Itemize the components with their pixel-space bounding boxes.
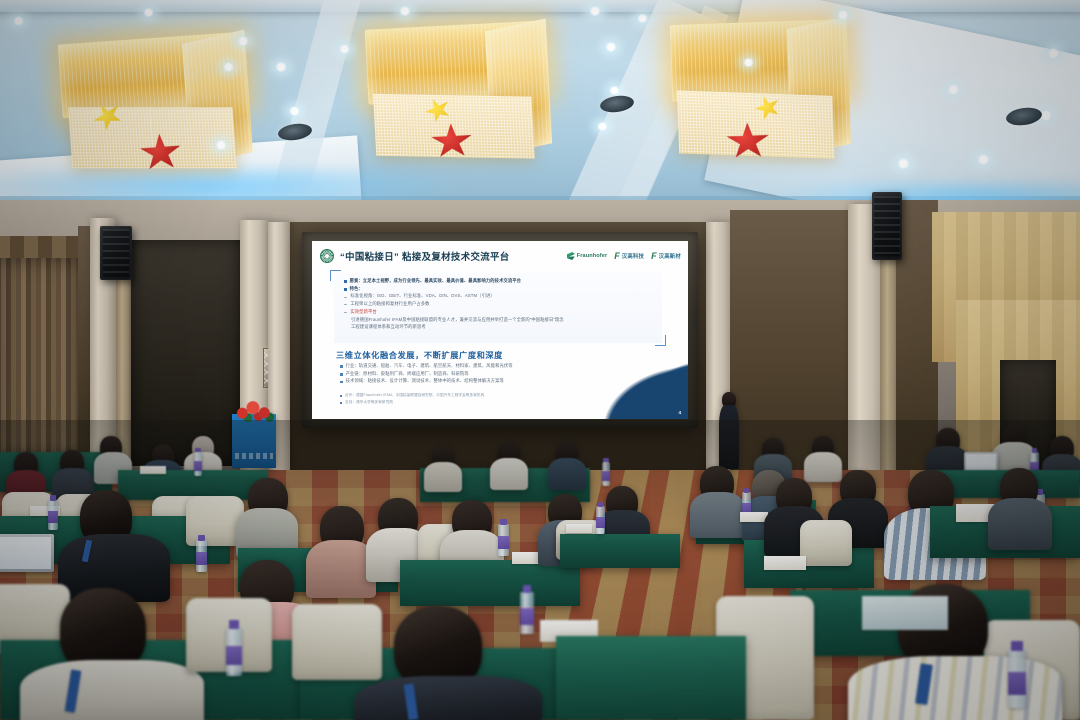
attendee-black-shirt xyxy=(62,490,172,600)
downlight xyxy=(608,86,621,95)
slide-bullet: 标准化视角：ISO、GB/T、行业标准、VDA、DIN、DVS、ASTM（引进） xyxy=(344,293,656,299)
attendee-body xyxy=(848,656,1062,720)
downlight xyxy=(946,84,961,95)
bullet-hyphen-icon xyxy=(344,312,347,313)
downlight xyxy=(398,6,412,16)
wall-panel-right-dark xyxy=(730,210,850,472)
attendee-foreground-left xyxy=(30,588,200,720)
presentation-slide: “中国粘接日” 粘接及复材技术交流平台 Fraunhofer F 汉高科技 F xyxy=(312,241,688,419)
downlight xyxy=(222,62,235,72)
slide-bullet-text: 标准化视角：ISO、GB/T、行业标准、VDA、DIN、DVS、ASTM（引进） xyxy=(350,293,494,299)
bullet-dot-icon xyxy=(344,288,347,291)
downlight xyxy=(12,16,25,26)
slide-list-text: 行业：轨道交通、船舶、汽车、电子、建筑、航空航天、材料家、建筑、风能和光伏等 xyxy=(346,363,513,369)
bullet-square-icon xyxy=(340,373,343,376)
downlight xyxy=(742,58,755,67)
ceiling xyxy=(0,0,1080,215)
slide-bullet: 愿景：立足本土视野，成为行业领先、最具实效、最具价值、最具影响力的技术交流平台 xyxy=(344,278,656,284)
slide-bullet-text: 特色： xyxy=(350,286,363,292)
downlight xyxy=(338,44,351,54)
water-bottle xyxy=(196,540,207,572)
table xyxy=(556,636,746,720)
slide-page-number: 4 xyxy=(678,410,681,415)
bullet-square-icon xyxy=(340,395,342,397)
loudspeaker-right xyxy=(872,192,902,260)
bullet-square-icon xyxy=(340,381,343,384)
partner-logo-2: F 汉高新材 xyxy=(651,252,681,261)
laptop xyxy=(0,534,54,572)
water-bottle xyxy=(602,462,610,486)
bullet-hyphen-icon xyxy=(344,297,347,298)
downlight xyxy=(588,6,602,16)
downlight xyxy=(604,42,618,52)
fraunhofer-mark-icon xyxy=(567,252,575,260)
partner-1-wordmark: 汉高科技 xyxy=(622,252,644,260)
fraunhofer-wordmark: Fraunhofer xyxy=(577,253,608,259)
downlight xyxy=(274,62,288,72)
slide-bullet: 工程建设课程体系和互动环节的新思考 xyxy=(344,324,656,330)
slide-bullet-text: 工程建设课程体系和互动环节的新思考 xyxy=(351,324,426,330)
table xyxy=(400,560,580,606)
flower-arrangement xyxy=(234,400,276,422)
slide-bullet: 引进德国Fraunhofer IFAM及中国粘接联盟的专业人才，兼并交流与应用并… xyxy=(344,317,656,323)
attendee-body xyxy=(424,462,462,492)
bullet-square-icon xyxy=(340,402,342,404)
slide-list-text: 产业链：原材料、胶粘剂厂商、终端应用厂、制造商、科研院等 xyxy=(346,371,469,377)
slide-bullet: 工程师以上的粘接和复材行业用户占多数 xyxy=(344,301,656,307)
paper-document xyxy=(140,466,166,474)
downlight xyxy=(836,10,850,20)
chandelier-middle xyxy=(365,20,552,159)
bullet-hyphen-icon xyxy=(344,304,347,305)
slide-corner-decoration-inner xyxy=(596,361,688,419)
water-bottle xyxy=(194,452,202,476)
slide-title: “中国粘接日” 粘接及复材技术交流平台 xyxy=(340,249,510,263)
partner-logo-row: Fraunhofer F 汉高科技 F 汉高新材 xyxy=(567,252,681,261)
paper-document xyxy=(764,556,806,570)
paper-document xyxy=(566,524,592,533)
attendee-foreground-center xyxy=(366,606,536,720)
slide-heading: 三维立体化融合发展，不断扩展广度和深度 xyxy=(336,349,503,361)
attendee-body xyxy=(804,452,842,482)
left-curtain xyxy=(0,258,82,458)
loudspeaker-left xyxy=(100,226,132,280)
projection-screen: “中国粘接日” 粘接及复材技术交流平台 Fraunhofer F 汉高科技 F xyxy=(312,241,688,419)
downlight xyxy=(236,36,250,46)
downlight xyxy=(976,154,991,165)
partner-2-glyph-icon: F xyxy=(651,252,657,261)
attendee-body xyxy=(690,492,746,538)
bullet-dot-icon xyxy=(344,280,347,283)
water-bottle xyxy=(498,524,509,556)
chandelier-right xyxy=(670,19,850,157)
fraunhofer-logo: Fraunhofer xyxy=(567,252,608,260)
institute-seal-logo xyxy=(320,249,334,263)
downlight xyxy=(596,122,609,131)
table xyxy=(560,534,680,568)
slide-bullet-text: 实效型新平台 xyxy=(350,309,376,315)
floor-banner xyxy=(232,414,276,468)
slide-bullet-text: 工程师以上的粘接和复材行业用户占多数 xyxy=(350,301,429,307)
attendee-body xyxy=(354,676,542,720)
chair xyxy=(800,520,852,566)
slide-bullet: 特色： xyxy=(344,286,656,292)
water-bottle xyxy=(48,500,58,530)
water-bottle xyxy=(1008,650,1026,708)
slide-bullet-text: 愿景：立足本土视野，成为行业领先、最具实效、最具价值、最具影响力的技术交流平台 xyxy=(350,278,521,284)
corner-bracket-icon xyxy=(330,270,341,281)
partner-1-glyph-icon: F xyxy=(614,252,620,261)
slide-bullet: 实效型新平台 xyxy=(344,309,656,315)
projection-screen-frame: “中国粘接日” 粘接及复材技术交流平台 Fraunhofer F 汉高科技 F xyxy=(302,232,698,428)
partner-logo-1: F 汉高科技 xyxy=(614,252,644,261)
attendee-body xyxy=(490,458,528,490)
water-bottle xyxy=(226,628,242,676)
attendee-body xyxy=(20,660,204,720)
slide-header: “中国粘接日” 粘接及复材技术交流平台 Fraunhofer F 汉高科技 F xyxy=(312,241,688,271)
water-bottle xyxy=(596,506,605,534)
conference-photo: “中国粘接日” 粘接及复材技术交流平台 Fraunhofer F 汉高科技 F xyxy=(0,0,1080,720)
downlight xyxy=(1046,48,1061,59)
slide-callout-box: 愿景：立足本土视野，成为行业领先、最具实效、最具价值、最具影响力的技术交流平台 … xyxy=(334,273,662,343)
attendee-body xyxy=(988,498,1052,550)
paper-document xyxy=(862,596,948,630)
downlight xyxy=(636,14,649,23)
slide-list-text: 技术领域：粘接技术、设计计算、测试技术、整体中的技术、结构整体解决方案等 xyxy=(346,378,504,384)
slide-bullet-text: 引进德国Fraunhofer IFAM及中国粘接联盟的专业人才，兼并交流与应用并… xyxy=(351,317,564,323)
attendee-body xyxy=(548,458,586,490)
downlight xyxy=(896,158,911,169)
corner-bracket-icon xyxy=(655,335,666,346)
water-bottle xyxy=(520,592,534,634)
presenter xyxy=(718,392,740,468)
chandelier-left xyxy=(58,32,252,173)
downlight xyxy=(214,140,228,150)
slide-footnote-text: 合作：德国Fraunhofer IFAM、中国粘接联盟及研究院、中国汽车工程学会… xyxy=(345,393,484,398)
bullet-square-icon xyxy=(340,365,343,368)
presenter-body xyxy=(719,405,739,469)
downlight xyxy=(288,106,301,116)
slide-footnote-text: 支持：清华大学等多家研究院 xyxy=(345,400,393,405)
partner-2-wordmark: 汉高新材 xyxy=(659,252,681,260)
downlight xyxy=(142,8,155,17)
wall-recess-left xyxy=(131,240,241,466)
